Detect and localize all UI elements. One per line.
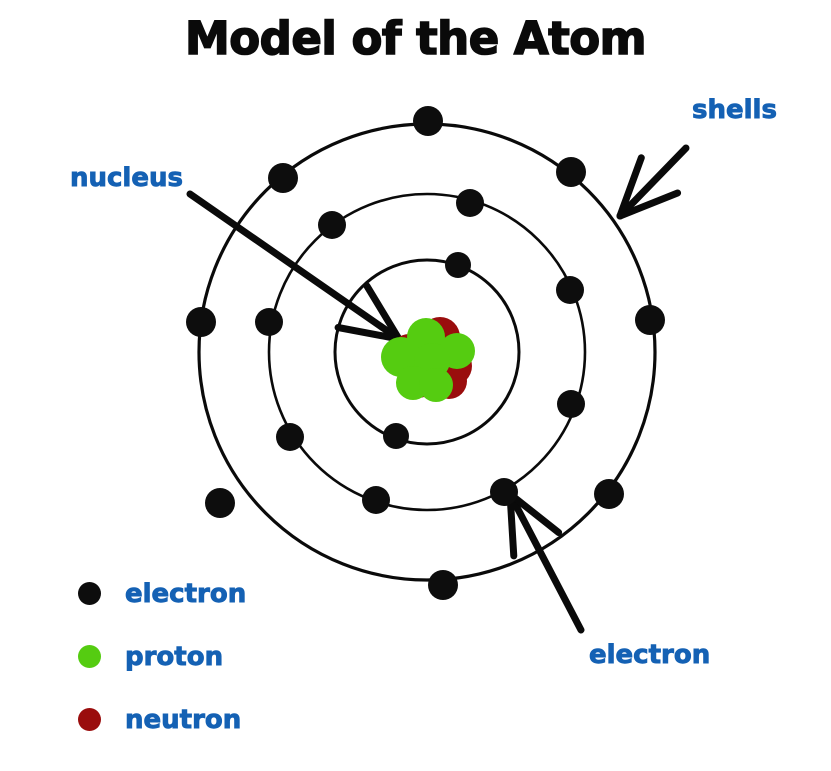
electron-dot-17	[556, 157, 586, 187]
nucleus-arrow	[190, 194, 399, 339]
electron-arrow-shaft	[510, 494, 581, 630]
electron-dot-1	[383, 423, 409, 449]
nucleus-arrow-shaft	[190, 194, 399, 339]
callout-label-electron: electron	[589, 640, 710, 670]
legend-item-neutron: neutron	[78, 688, 338, 751]
electron-dot-3	[318, 211, 346, 239]
electron-dot-13	[205, 488, 235, 518]
electron-dot-0	[445, 252, 471, 278]
atom-diagram-canvas: Model of the Atom shells nucleus electro…	[0, 0, 831, 771]
legend: electron proton neutron	[78, 562, 338, 751]
proton-swatch-icon	[78, 645, 101, 668]
electron-dot-16	[635, 305, 665, 335]
electron-dot-12	[186, 307, 216, 337]
electron-dot-4	[255, 308, 283, 336]
legend-label-neutron: neutron	[125, 705, 241, 735]
electron-dot-15	[594, 479, 624, 509]
shells-arrow	[620, 148, 686, 216]
electron-dot-8	[557, 390, 585, 418]
legend-label-electron: electron	[125, 579, 246, 609]
electron-dot-6	[362, 486, 390, 514]
electron-dot-2	[456, 189, 484, 217]
electron-dot-14	[428, 570, 458, 600]
nucleus-proton-10	[419, 368, 453, 402]
electron-dot-7	[490, 478, 518, 506]
electron-dot-9	[556, 276, 584, 304]
legend-label-proton: proton	[125, 642, 223, 672]
electron-dot-10	[413, 106, 443, 136]
electron-dot-5	[276, 423, 304, 451]
neutron-swatch-icon	[78, 708, 101, 731]
callout-label-nucleus: nucleus	[70, 163, 183, 193]
electron-arrow	[510, 494, 581, 630]
electron-swatch-icon	[78, 582, 101, 605]
legend-item-electron: electron	[78, 562, 338, 625]
callout-label-shells: shells	[692, 95, 777, 125]
legend-item-proton: proton	[78, 625, 338, 688]
electron-dot-11	[268, 163, 298, 193]
